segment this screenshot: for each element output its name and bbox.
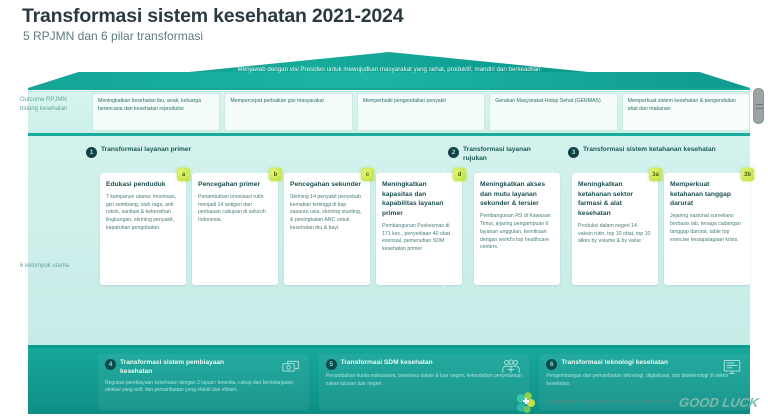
footer-branding: KEMENTERIAN KESEHATAN REPUBLIK INDONESIA… — [513, 390, 758, 416]
detail-card-pencegahan-sekunder[interactable]: c Pencegahan sekunder Skrining 14 penyak… — [284, 173, 370, 285]
pillar-header-3[interactable]: 3 Transformasi sistem ketahanan kesehata… — [568, 146, 728, 158]
pillar-5-header: 5 Transformasi SDM kesehatan — [326, 359, 523, 370]
pillar-number-badge-6: 6 — [546, 359, 557, 370]
page-subtitle: 5 RPJMN dan 6 pilar transformasi — [23, 29, 203, 43]
pillar-4-title: Transformasi sistem pembiayaan kesehatan — [120, 359, 238, 377]
pillars-side-label: 6 kelompok utama — [20, 262, 80, 271]
detail-card-row: a Edukasi penduduk 7 kampanye utama: imu… — [100, 173, 750, 285]
card-description: Produksi dalam negeri 14 vaksin rutin, t… — [578, 223, 652, 246]
card-tag-d: d — [453, 168, 466, 181]
ministry-name: KEMENTERIAN KESEHATAN REPUBLIK INDONESIA — [545, 400, 672, 406]
detail-card-akses-mutu-sekunder-tersier[interactable]: Meningkatkan akses dan mutu layanan seku… — [474, 173, 560, 285]
pillar-header-label-3: Transformasi sistem ketahanan kesehatan — [583, 146, 716, 155]
card-title: Meningkatkan akses dan mutu layanan seku… — [480, 180, 554, 209]
card-title: Edukasi penduduk — [106, 180, 180, 190]
outcome-box-2[interactable]: Mempercepat perbaikan gizi masyarakat — [224, 93, 352, 131]
pillar-6-title: Transformasi teknologi kesehatan — [561, 359, 668, 368]
pillar-number-badge-5: 5 — [326, 359, 337, 370]
card-title: Memperkuat ketahanan tanggap darurat — [670, 180, 744, 209]
pillar-header-label-2: Transformasi layanan rujukan — [463, 146, 548, 164]
pillar-4-description: Regulasi pembiayaan kesehatan dengan 3 t… — [105, 380, 302, 395]
pillar-number-badge-3: 3 — [568, 147, 579, 158]
pillar-header-label-1: Transformasi layanan primer — [101, 146, 191, 155]
outcome-side-label: Outcome RPJMN bidang kesehatan — [20, 96, 80, 114]
card-title: Pencegahan sekunder — [290, 180, 364, 190]
outcome-row: Meningkatkan kesehatan ibu, anak, keluar… — [92, 93, 750, 131]
card-tag-c: c — [361, 168, 374, 181]
card-tag-3a: 3a — [649, 168, 662, 181]
detail-card-pencegahan-primer[interactable]: b Pencegahan primer Penambahan imunisasi… — [192, 173, 278, 285]
card-description: 7 kampanye utama: imunisasi, gizi seimba… — [106, 194, 180, 233]
detail-card-ketahanan-tanggap-darurat[interactable]: 3b Memperkuat ketahanan tanggap darurat … — [664, 173, 750, 285]
outcome-box-1[interactable]: Meningkatkan kesehatan ibu, anak, keluar… — [92, 93, 220, 131]
pillar-4-header: 4 Transformasi sistem pembiayaan kesehat… — [105, 359, 302, 377]
outcome-box-4[interactable]: Gerakan Masyarakat Hidup Sehat (GERMAS) — [489, 93, 617, 131]
monitor-icon — [722, 358, 742, 376]
card-tag-b: b — [269, 168, 282, 181]
card-description: Penambahan imunisasi rutin menjadi 14 an… — [198, 194, 272, 225]
pillar-5-description: Penambahan kuota mahasiswa, beasiswa dal… — [326, 373, 523, 388]
card-description: Pembangunan Puskesmas di 171 kec., penye… — [382, 223, 456, 254]
detail-card-ketahanan-farmasi-alkes[interactable]: 3a Meningkatkan ketahanan sektor farmasi… — [572, 173, 658, 285]
pillar-header-1[interactable]: 1 Transformasi layanan primer — [86, 146, 376, 158]
house-diagram: visi Menjawab dengan visi Presiden untuk… — [14, 52, 754, 370]
pillar-6-description: Pengembangan dan pemanfaatan teknologi, … — [546, 373, 743, 388]
scrollbar-grip-line — [756, 108, 763, 109]
pillar-number-badge-4: 4 — [105, 359, 116, 370]
roof-divider — [28, 88, 750, 90]
card-title: Meningkatkan ketahanan sektor farmasi & … — [578, 180, 652, 219]
people-icon — [501, 358, 521, 376]
card-description: Skrining 14 penyakit penyebab kematian t… — [290, 194, 364, 233]
pillar-6-header: 6 Transformasi teknologi kesehatan — [546, 359, 743, 370]
pillar-number-badge-1: 1 — [86, 147, 97, 158]
detail-card-kapasitas-layanan-primer[interactable]: d Meningkatkan kapasitas dan kapabilitas… — [376, 173, 462, 285]
pillar-header-2[interactable]: 2 Transformasi layanan rujukan — [448, 146, 548, 164]
pillar-5-sdm-kesehatan[interactable]: 5 Transformasi SDM kesehatan Penambahan … — [319, 354, 530, 410]
infographic-canvas: Transformasi sistem kesehatan 2021-2024 … — [0, 0, 768, 420]
scrollbar-grip-line — [756, 104, 763, 105]
card-tag-a: a — [177, 168, 190, 181]
pillar-number-badge-2: 2 — [448, 147, 459, 158]
pillar-5-title: Transformasi SDM kesehatan — [341, 359, 433, 368]
card-tag-3b: 3b — [741, 168, 754, 181]
outcome-box-5[interactable]: Memperkuat sistem kesehatan & pengendali… — [622, 93, 750, 131]
card-description: Pembangunan RS di Kawasan Timur, jejarin… — [480, 213, 554, 252]
outcome-box-3[interactable]: Memperbaiki pengendalian penyakit — [357, 93, 485, 131]
card-title: Meningkatkan kapasitas dan kapabilitas l… — [382, 180, 456, 219]
vertical-scrollbar-thumb[interactable] — [753, 88, 764, 124]
watermark-text: GOOD LUCK — [678, 397, 759, 409]
vision-statement: Menjawab dengan visi Presiden untuk mewu… — [104, 66, 674, 74]
card-description: Jejaring nasional surveilans berbasis la… — [670, 213, 744, 244]
pillar-4-pembiayaan-kesehatan[interactable]: 4 Transformasi sistem pembiayaan kesehat… — [98, 354, 309, 410]
money-icon — [281, 358, 301, 376]
roof-base-shape — [28, 72, 750, 88]
vision-label: visi — [14, 58, 544, 64]
kemenkes-logo-icon — [513, 390, 539, 416]
page-title: Transformasi sistem kesehatan 2021-2024 — [22, 5, 403, 28]
card-title: Pencegahan primer — [198, 180, 272, 190]
detail-card-edukasi-penduduk[interactable]: a Edukasi penduduk 7 kampanye utama: imu… — [100, 173, 186, 285]
